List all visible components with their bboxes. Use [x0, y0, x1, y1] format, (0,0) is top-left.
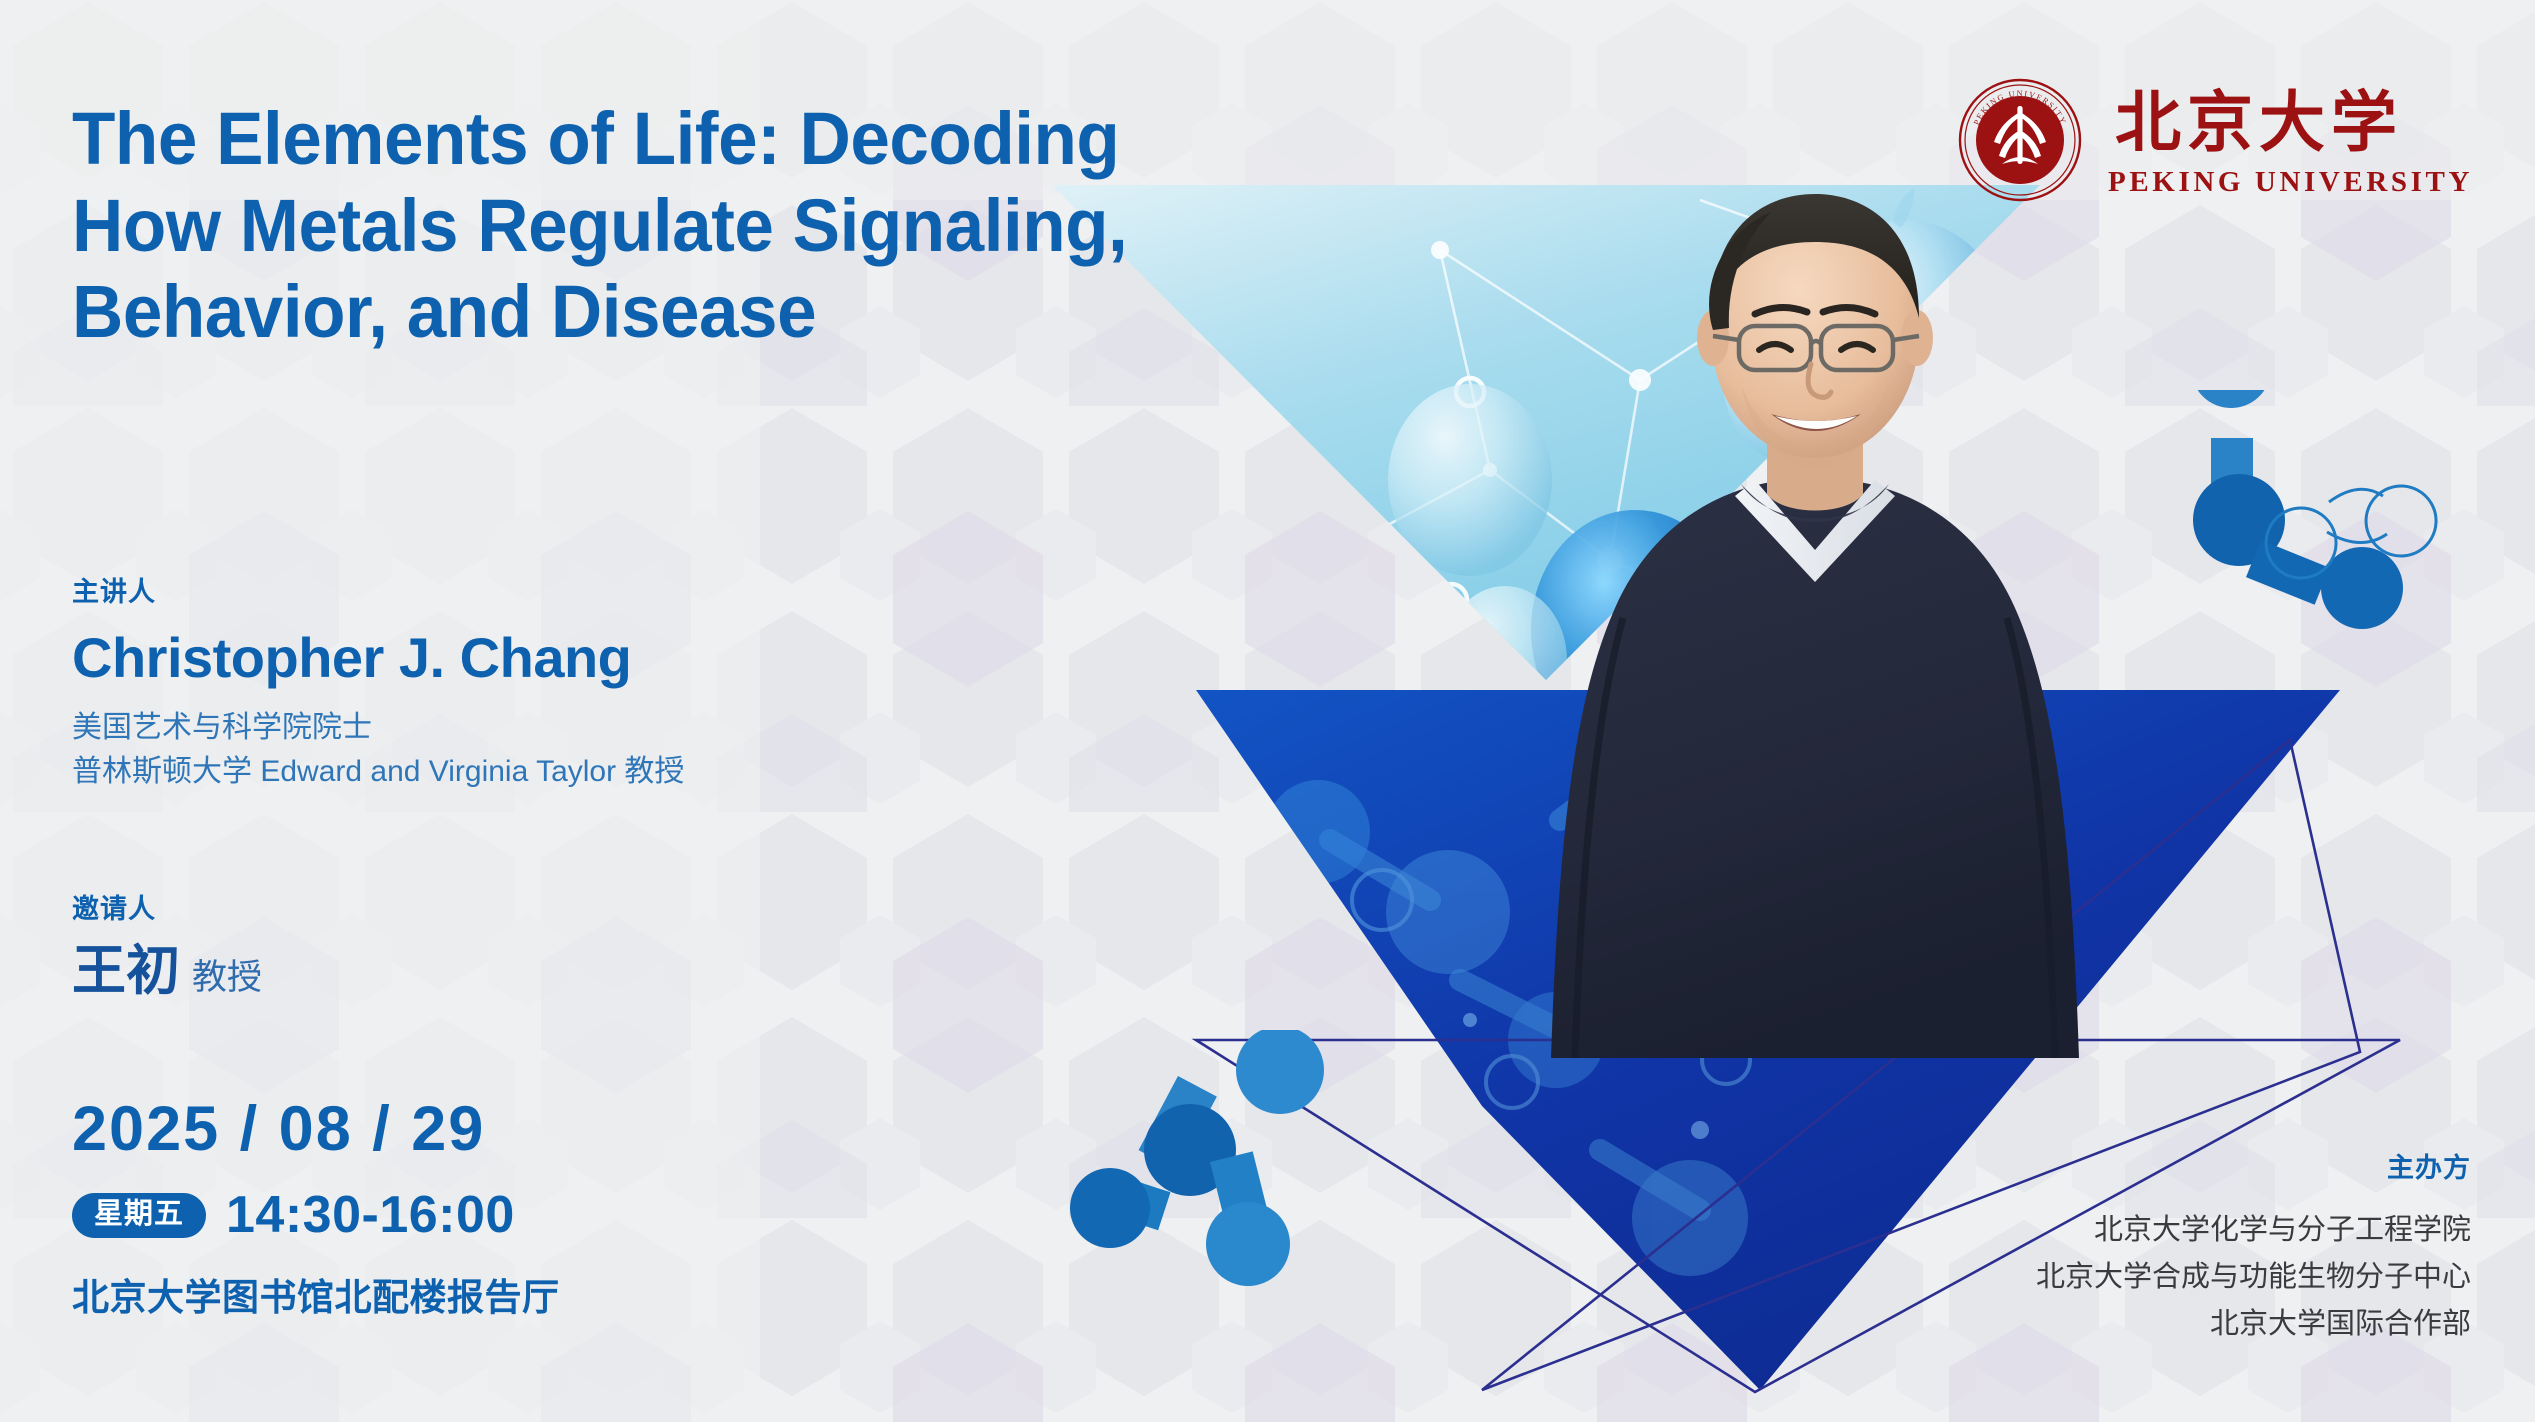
inviter-title-suffix: 教授: [192, 958, 262, 997]
content-column: The Elements of Life: Decoding How Metal…: [72, 0, 1492, 1422]
event-date: 2025 / 08 / 29: [72, 1098, 560, 1161]
speaker-affiliations: 美国艺术与科学院院士 普林斯顿大学 Edward and Virginia Ta…: [72, 706, 684, 795]
inviter-block: 邀请人 王初教授: [72, 887, 262, 1001]
seminar-poster: PEKING UNIVERSITY 1 8 9 8 北京大学 PEKING UN…: [0, 0, 2535, 1422]
speaker-block: 主讲人 Christopher J. Chang 美国艺术与科学院院士 普林斯顿…: [72, 570, 684, 795]
pku-logo: PEKING UNIVERSITY 1 8 9 8 北京大学 PEKING UN…: [1958, 78, 2473, 202]
poster-title: The Elements of Life: Decoding How Metal…: [72, 96, 1454, 356]
molecule-decoration-right: [2153, 390, 2483, 670]
schedule-block: 2025 / 08 / 29 星期五 14:30-16:00 北京大学图书馆北配…: [72, 1098, 560, 1321]
organizer-item: 北京大学合成与功能生物分子中心: [2036, 1254, 2471, 1301]
pku-chinese-wordmark: 北京大学: [2115, 83, 2467, 161]
speaker-label: 主讲人: [72, 570, 684, 609]
pku-english-wordmark: PEKING UNIVERSITY: [2108, 168, 2473, 197]
affiliation-line: 美国艺术与科学院院士: [72, 706, 684, 750]
organizer-item: 北京大学化学与分子工程学院: [2036, 1207, 2471, 1254]
event-time: 14:30-16:00: [226, 1189, 515, 1241]
time-row: 星期五 14:30-16:00: [72, 1189, 560, 1241]
svg-text:北京大学: 北京大学: [2115, 83, 2403, 161]
speaker-portrait: [1455, 178, 2175, 1058]
weekday-badge: 星期五: [72, 1193, 206, 1238]
affiliation-line: 普林斯顿大学 Edward and Virginia Taylor 教授: [72, 750, 684, 794]
speaker-name: Christopher J. Chang: [72, 629, 684, 688]
event-venue: 北京大学图书馆北配楼报告厅: [72, 1267, 560, 1321]
organizer-block: 主办方 北京大学化学与分子工程学院 北京大学合成与功能生物分子中心 北京大学国际…: [2036, 1146, 2471, 1348]
inviter-label: 邀请人: [72, 887, 262, 926]
inviter-name-text: 王初: [72, 941, 180, 1001]
organizer-label: 主办方: [2036, 1146, 2471, 1185]
inviter-name: 王初教授: [72, 942, 262, 1001]
pku-seal-icon: PEKING UNIVERSITY 1 8 9 8: [1958, 78, 2082, 202]
organizer-item: 北京大学国际合作部: [2036, 1301, 2471, 1348]
organizer-list: 北京大学化学与分子工程学院 北京大学合成与功能生物分子中心 北京大学国际合作部: [2036, 1207, 2471, 1348]
